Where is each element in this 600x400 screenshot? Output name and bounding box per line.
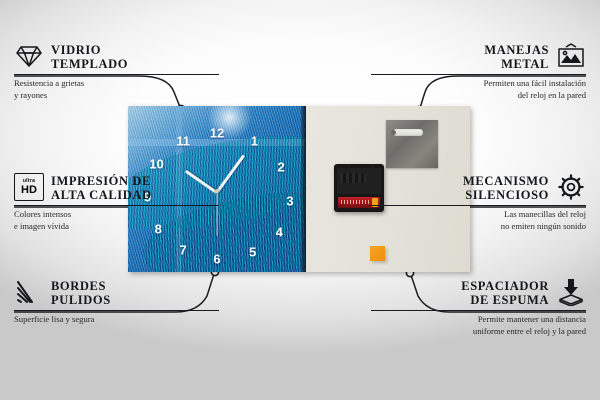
- clock-numeral: 12: [210, 125, 224, 140]
- metal-hanger-plate: [386, 120, 438, 168]
- feature-title-line2: METAL: [484, 57, 549, 71]
- feature-title-line2: DE ESPUMA: [461, 293, 549, 307]
- feature-description: Colores intensos e imagen vívida: [14, 209, 219, 233]
- feature-title-line1: ESPACIADOR: [461, 279, 549, 293]
- feature-rule: [371, 205, 586, 206]
- clock-numeral: 5: [249, 245, 256, 260]
- feature-rule: [14, 74, 219, 75]
- feature-description: Permite mantener una distancia uniforme …: [371, 314, 586, 338]
- feature-rule: [14, 205, 219, 206]
- feature-description: Resistencia a grietas y rayones: [14, 78, 219, 102]
- feature-rule: [14, 310, 219, 311]
- foam-spacer: [370, 246, 385, 261]
- feature-title-line2: ALTA CALIDAD: [51, 188, 152, 202]
- clock-numeral: 10: [149, 157, 163, 172]
- feature-description: Superficie lisa y segura: [14, 314, 219, 326]
- feature-title-line1: MECANISMO: [463, 174, 549, 188]
- feature-description: Las manecillas del reloj no emiten ningú…: [371, 209, 586, 233]
- ultra-hd-small-label: ultra: [23, 179, 35, 184]
- clock-numeral: 11: [176, 133, 190, 148]
- feature-description: Permiten una fácil instalación del reloj…: [371, 78, 586, 102]
- hanger-slot: [393, 129, 423, 136]
- clock-numeral: 6: [213, 251, 220, 266]
- foam-spacer-arrow-icon: [556, 277, 586, 307]
- feature-title-line2: PULIDOS: [51, 293, 111, 307]
- battery-label: [341, 200, 371, 204]
- feature-title-line1: IMPRESIÓN DE: [51, 174, 152, 188]
- feature-title-line2: SILENCIOSO: [463, 188, 549, 202]
- feature-title-line1: MANEJAS: [484, 43, 549, 57]
- wall-frame-hanger-icon: [556, 41, 586, 71]
- clock-numeral: 7: [180, 243, 187, 258]
- clock-numeral: 3: [286, 193, 293, 208]
- hanger-hole: [391, 130, 396, 135]
- clock-numeral: 1: [251, 133, 258, 148]
- ultra-hd-icon: ultra HD: [14, 172, 44, 202]
- feature-title-line1: VIDRIO: [51, 43, 128, 57]
- feature-rule: [371, 74, 586, 75]
- feature-title-line2: TEMPLADO: [51, 57, 128, 71]
- clock-numeral: 2: [277, 160, 284, 175]
- infographic-canvas: 12 1 2 3 4 5 6 7 8 9 10 11: [0, 0, 600, 400]
- ultra-hd-large-label: HD: [21, 185, 37, 196]
- clock-numeral: 4: [276, 225, 283, 240]
- feature-manejas-metal: MANEJAS METAL Permiten una fácil instala…: [371, 41, 586, 102]
- feature-espaciador-de-espuma: ESPACIADOR DE ESPUMA Permite mantener un…: [371, 277, 586, 338]
- feature-vidrio-templado: VIDRIO TEMPLADO Resistencia a grietas y …: [14, 41, 219, 102]
- bevel-edges-icon: [14, 277, 44, 307]
- diamond-icon: [14, 41, 44, 71]
- feature-rule: [371, 310, 586, 311]
- gear-icon: [556, 172, 586, 202]
- feature-bordes-pulidos: BORDES PULIDOS Superficie lisa y segura: [14, 277, 219, 326]
- mechanism-detail: [340, 173, 366, 183]
- feature-impresion-alta-calidad: ultra HD IMPRESIÓN DE ALTA CALIDAD Color…: [14, 172, 219, 233]
- feature-title-line1: BORDES: [51, 279, 111, 293]
- feature-mecanismo-silencioso: MECANISMO SILENCIOSO Las manecillas del …: [371, 172, 586, 233]
